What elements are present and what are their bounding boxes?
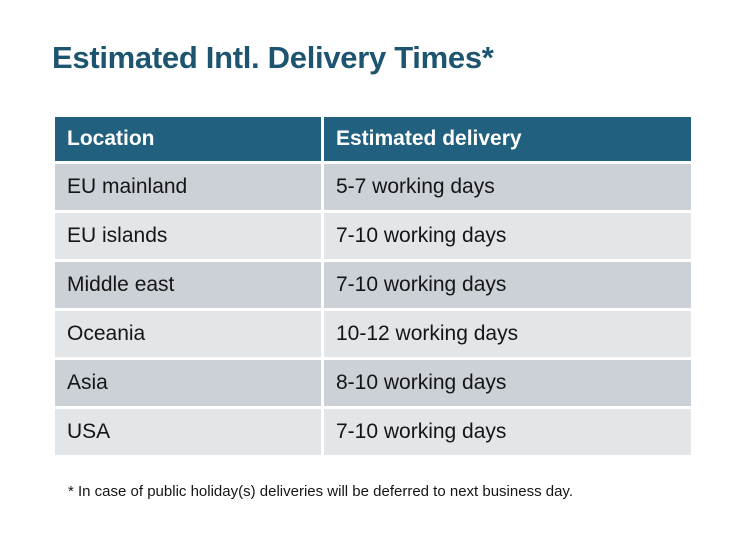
table-row: USA 7-10 working days [55,409,691,455]
cell-delivery: 10-12 working days [324,311,691,357]
table-body: EU mainland 5-7 working days EU islands … [55,164,691,455]
cell-location: USA [55,409,321,455]
cell-delivery: 7-10 working days [324,262,691,308]
table-header-row: Location Estimated delivery [55,117,691,161]
cell-delivery: 7-10 working days [324,213,691,259]
cell-location: Asia [55,360,321,406]
cell-delivery: 5-7 working days [324,164,691,210]
cell-location: EU mainland [55,164,321,210]
table-row: Middle east 7-10 working days [55,262,691,308]
cell-delivery: 7-10 working days [324,409,691,455]
table-header: Location Estimated delivery [55,117,691,161]
table-row: Oceania 10-12 working days [55,311,691,357]
table-row: EU mainland 5-7 working days [55,164,691,210]
table-row: EU islands 7-10 working days [55,213,691,259]
cell-location: Middle east [55,262,321,308]
delivery-times-page: Estimated Intl. Delivery Times* Location… [0,0,745,536]
page-title: Estimated Intl. Delivery Times* [52,38,494,78]
cell-location: Oceania [55,311,321,357]
table-row: Asia 8-10 working days [55,360,691,406]
cell-location: EU islands [55,213,321,259]
column-header-location: Location [55,117,321,161]
column-header-estimated-delivery: Estimated delivery [324,117,691,161]
cell-delivery: 8-10 working days [324,360,691,406]
footnote-text: * In case of public holiday(s) deliverie… [68,482,573,502]
delivery-times-table: Location Estimated delivery EU mainland … [52,114,694,458]
